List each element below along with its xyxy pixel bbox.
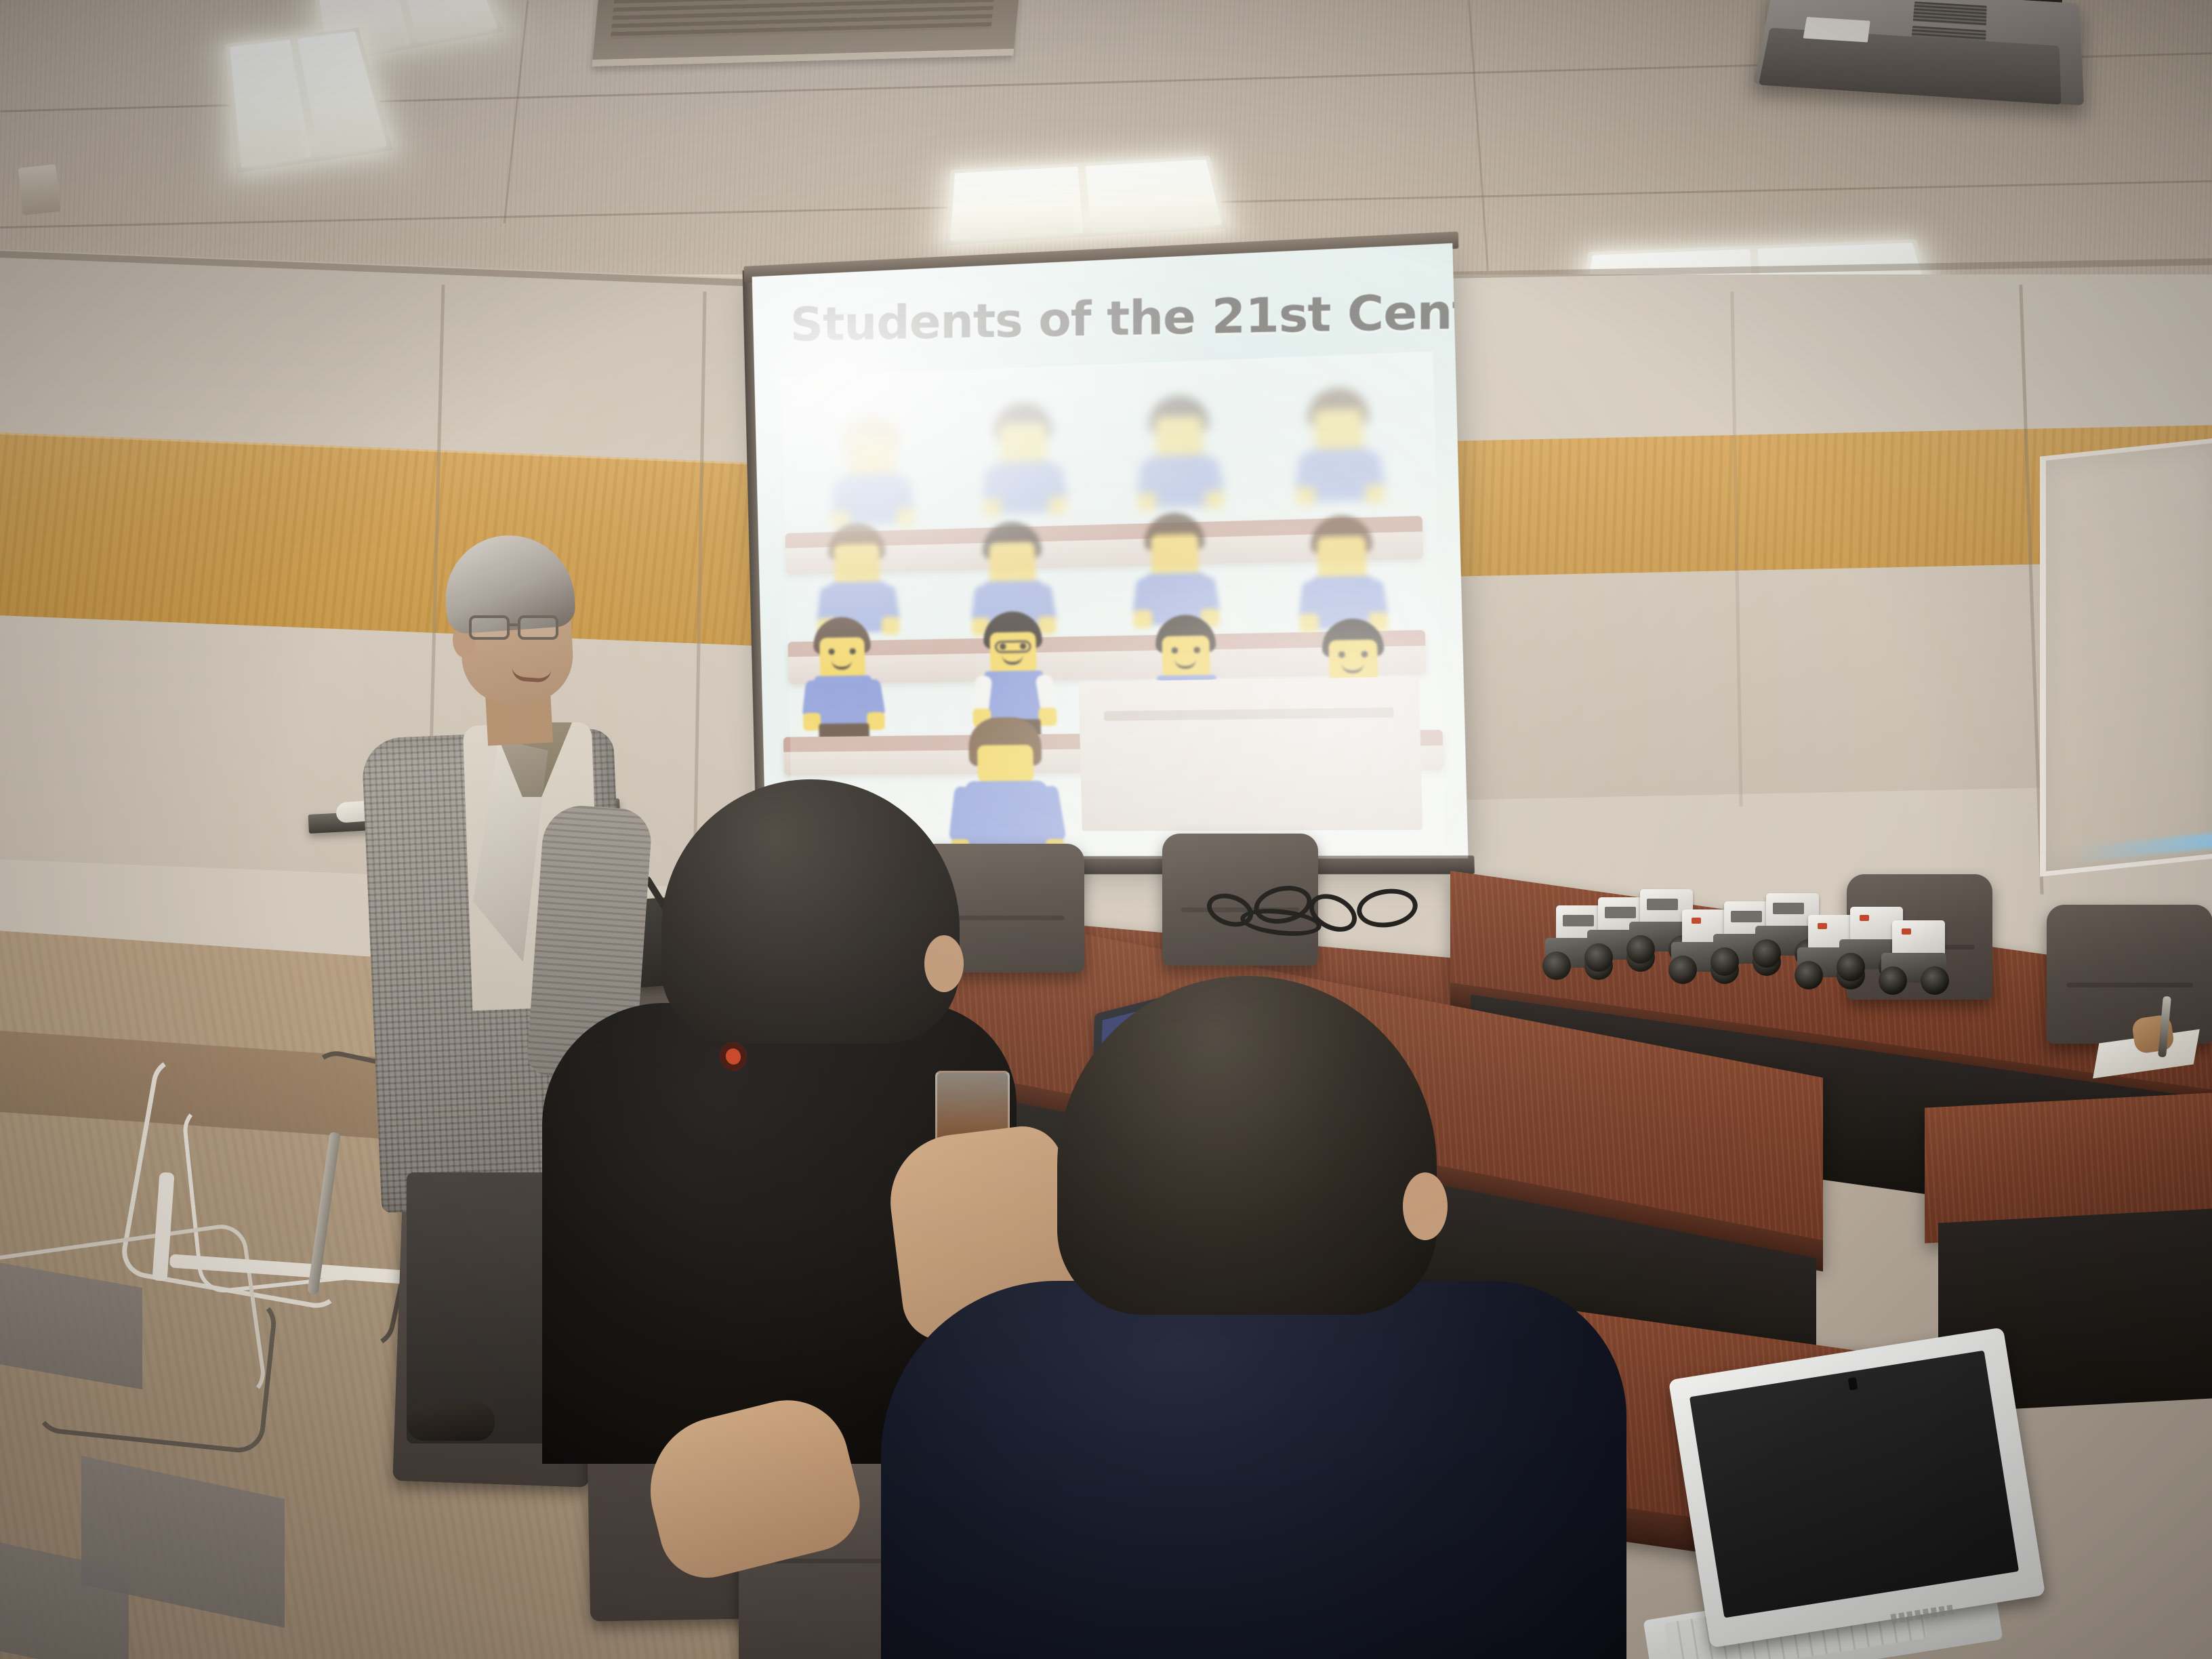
navy-hair xyxy=(1057,976,1437,1315)
lego-student-back-2 xyxy=(981,401,1065,404)
navy-tshirt: llee youth community xyxy=(881,1281,1626,1659)
ceiling-speaker xyxy=(18,164,60,215)
navy-ear xyxy=(1403,1172,1448,1240)
lego-student-middle-2 xyxy=(970,520,1054,523)
projection-screen: Students of the 21st Century xyxy=(752,243,1469,859)
cable-tangle xyxy=(1200,881,1443,956)
slide-title: Students of the 21st Century xyxy=(790,282,1468,352)
lego-student-back-3 xyxy=(1135,394,1221,397)
attendee-navy-shirt: llee youth community xyxy=(935,976,1626,1659)
presenter-glasses xyxy=(469,615,568,642)
wall-display-panel xyxy=(2040,438,2212,876)
polo-hair xyxy=(661,779,960,1044)
av-cable xyxy=(33,1276,279,1455)
lego-student-back-1 xyxy=(829,413,912,416)
lego-front-desk xyxy=(1078,676,1422,831)
nxt-robot xyxy=(1881,920,1946,995)
empty-chair-4[interactable] xyxy=(2047,905,2212,1044)
lego-student-middle-3 xyxy=(1131,512,1217,514)
fluorescent-tube xyxy=(230,40,310,168)
slide-surface: Students of the 21st Century xyxy=(752,243,1469,859)
projector-label xyxy=(1803,17,1870,43)
photo-scene: Students of the 21st Century xyxy=(0,0,2212,1659)
presenter-shoe xyxy=(407,1403,495,1441)
fluorescent-tube xyxy=(1086,160,1222,232)
webcam-icon xyxy=(1848,1377,1858,1391)
fluorescent-tube xyxy=(950,167,1083,241)
lego-student-back-4 xyxy=(1294,386,1382,390)
white-laptop-screen xyxy=(1689,1351,2019,1618)
white-laptop[interactable] xyxy=(1687,1352,2067,1659)
slide-lego-classroom xyxy=(781,351,1446,853)
lego-student-middle-4 xyxy=(1297,514,1385,516)
